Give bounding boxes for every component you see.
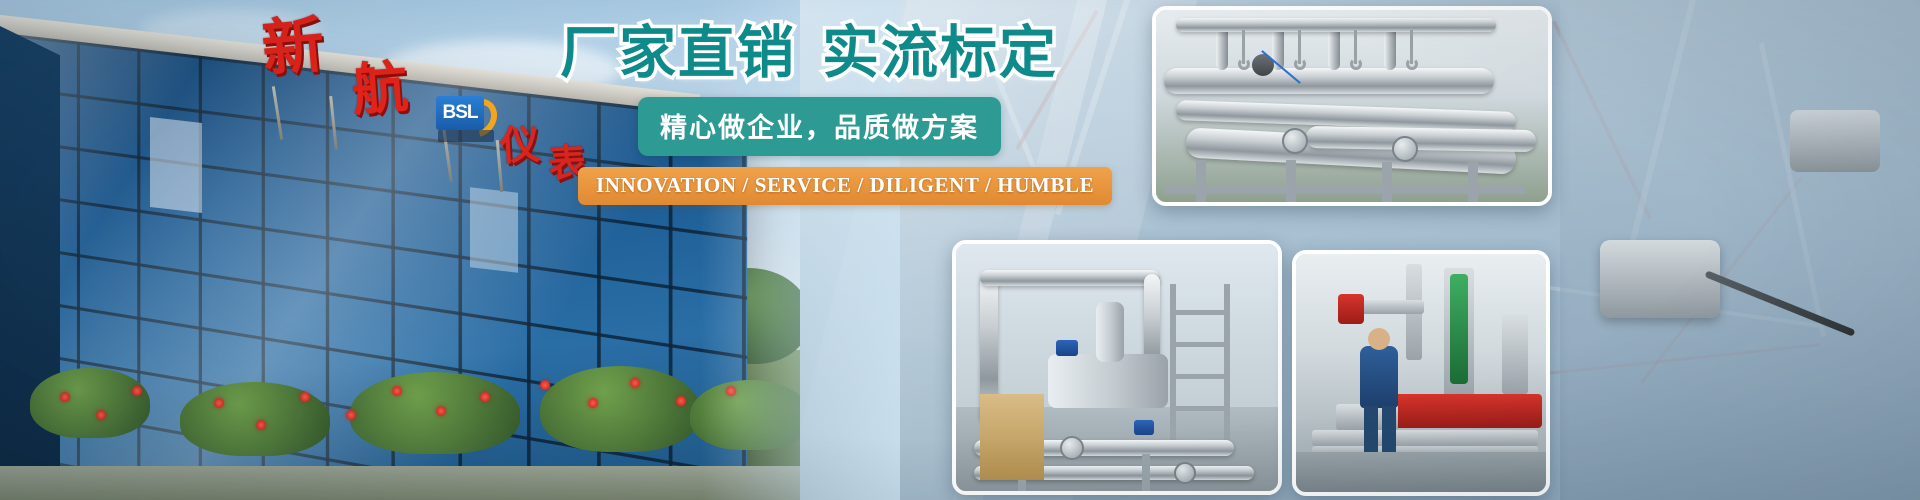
bsl-logo: BSL: [436, 96, 500, 144]
bsl-logo-subtext: [438, 130, 494, 142]
bsl-logo-text: BSL: [436, 96, 484, 130]
plywood-panel: [980, 394, 1044, 480]
green-column: [1450, 274, 1468, 384]
background-transmitter-2: [1790, 110, 1880, 172]
foreground-path: [0, 466, 800, 500]
headline: 厂家直销 实流标定: [560, 24, 1030, 83]
photo-tile-flow-calibration: [1152, 6, 1552, 206]
background-transmitter-1: [1600, 240, 1720, 318]
tagline-bar: INNOVATION / SERVICE / DILIGENT / HUMBLE: [578, 167, 1112, 205]
photo-tile-process-plant: [952, 240, 1282, 495]
roof-sign-char-2: 航: [350, 60, 410, 120]
photo-tile-worker-machine: [1292, 250, 1550, 496]
promo-banner: 新 航 仪 表 BSL: [0, 0, 1920, 500]
banner-copy-block: 厂家直销 实流标定 精心做企业，品质做方案 INNOVATION / SERVI…: [560, 24, 1030, 205]
roof-sign-char-1: 新: [259, 13, 326, 80]
window-highlight-2: [470, 187, 518, 272]
headline-part-1: 厂家直销: [560, 24, 796, 83]
roof-sign-char-3: 仪: [499, 125, 541, 167]
subtitle-pill: 精心做企业，品质做方案: [638, 97, 1001, 156]
window-highlight-1: [150, 117, 202, 213]
cable-spool: [1302, 460, 1340, 488]
headline-part-2: 实流标定: [822, 24, 1058, 83]
